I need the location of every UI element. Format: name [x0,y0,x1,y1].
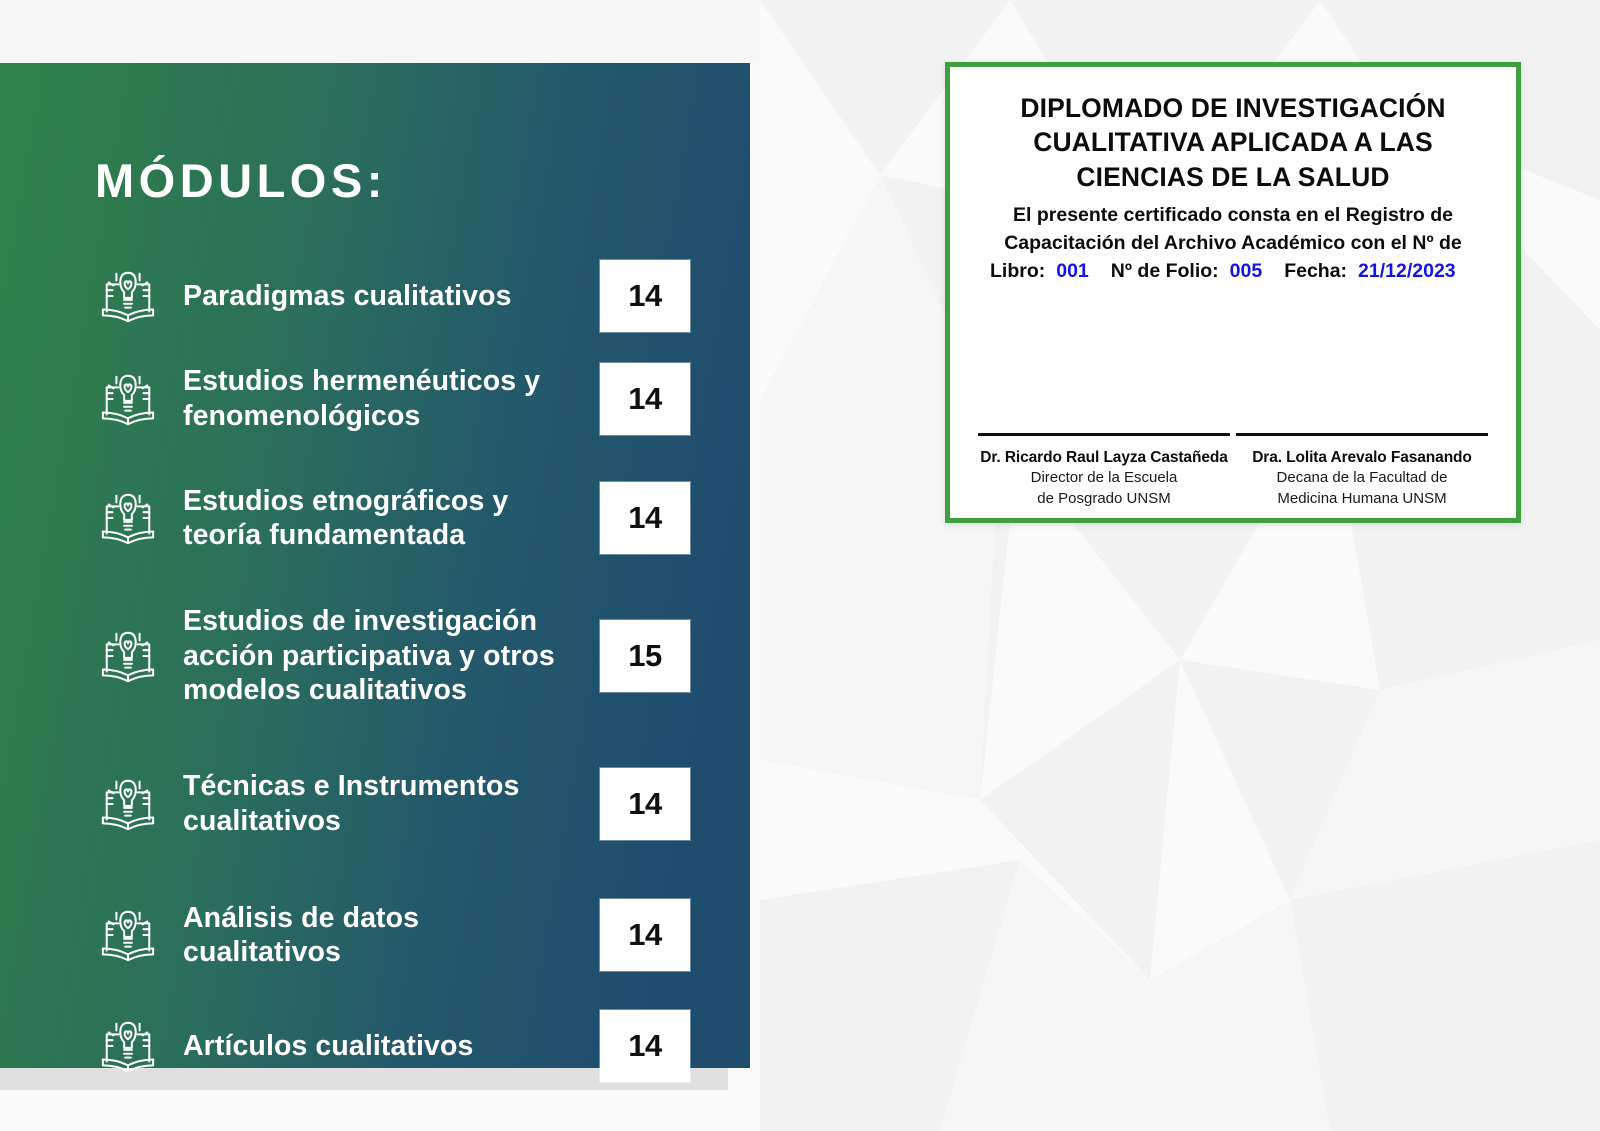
module-row[interactable]: Artículos cualitativos 14 [0,997,730,1095]
modules-list: Paradigmas cualitativos 14 [0,253,750,1095]
folio-value: 005 [1230,260,1263,283]
book-lightbulb-icon [95,488,161,548]
module-row[interactable]: Estudios hermenéuticos y fenomenológicos… [0,339,730,458]
module-hours-badge: 14 [600,1010,690,1082]
folio-label: Nº de Folio: [1111,260,1219,283]
module-label: Paradigmas cualitativos [183,279,593,313]
module-hours-badge: 15 [600,620,690,692]
signature-role-line1: Director de la Escuela [978,468,1230,488]
module-hours-badge: 14 [600,260,690,332]
book-lightbulb-icon [95,1016,161,1076]
certificate-card: DIPLOMADO DE INVESTIGACIÓN CUALITATIVA A… [945,62,1521,523]
module-row[interactable]: Análisis de datos cualitativos 14 [0,873,730,997]
book-lightbulb-icon [95,774,161,834]
signature-role-line1: Decana de la Facultad de [1236,468,1488,488]
fecha-label: Fecha: [1284,260,1347,283]
module-label: Técnicas e Instrumentos cualitativos [183,769,593,838]
signature-block: Dr. Ricardo Raul Layza Castañeda Directo… [978,433,1488,508]
certificate-title: DIPLOMADO DE INVESTIGACIÓN CUALITATIVA A… [978,91,1488,194]
module-row[interactable]: Paradigmas cualitativos 14 [0,253,730,339]
module-hours-badge: 14 [600,768,690,840]
signature-role-line2: Medicina Humana UNSM [1236,489,1488,509]
certificate-registry-fields: Libro: 001 Nº de Folio: 005 Fecha: 21/12… [978,260,1488,283]
module-row[interactable]: Estudios de investigación acción partici… [0,578,730,734]
book-lightbulb-icon [95,266,161,326]
book-lightbulb-icon [95,905,161,965]
module-hours-badge: 14 [600,899,690,971]
book-lightbulb-icon [95,626,161,686]
libro-value: 001 [1056,260,1089,283]
signature-rule [1236,433,1488,436]
certificate-registry-text: El presente certificado consta en el Reg… [978,202,1488,257]
signature-name: Dra. Lolita Arevalo Fasanando [1236,448,1488,467]
libro-label: Libro: [990,260,1045,283]
signature-name: Dr. Ricardo Raul Layza Castañeda [978,448,1230,467]
signature-role-line2: de Posgrado UNSM [978,489,1230,509]
module-label: Estudios hermenéuticos y fenomenológicos [183,364,593,433]
book-lightbulb-icon [95,369,161,429]
module-label: Estudios de investigación acción partici… [183,604,593,707]
signature-rule [978,433,1230,436]
slide-canvas: MÓDULOS: [0,0,1600,1131]
page-title: MÓDULOS: [95,157,387,204]
signature-right: Dra. Lolita Arevalo Fasanando Decana de … [1236,433,1488,508]
module-row[interactable]: Estudios etnográficos y teoría fundament… [0,458,730,578]
module-row[interactable]: Técnicas e Instrumentos cualitativos 14 [0,734,730,873]
module-hours-badge: 14 [600,363,690,435]
module-hours-badge: 14 [600,482,690,554]
module-label: Análisis de datos cualitativos [183,901,593,970]
module-label: Artículos cualitativos [183,1029,593,1063]
modules-panel: MÓDULOS: [0,63,750,1068]
signature-left: Dr. Ricardo Raul Layza Castañeda Directo… [978,433,1230,508]
module-label: Estudios etnográficos y teoría fundament… [183,484,593,553]
fecha-value: 21/12/2023 [1358,260,1456,283]
